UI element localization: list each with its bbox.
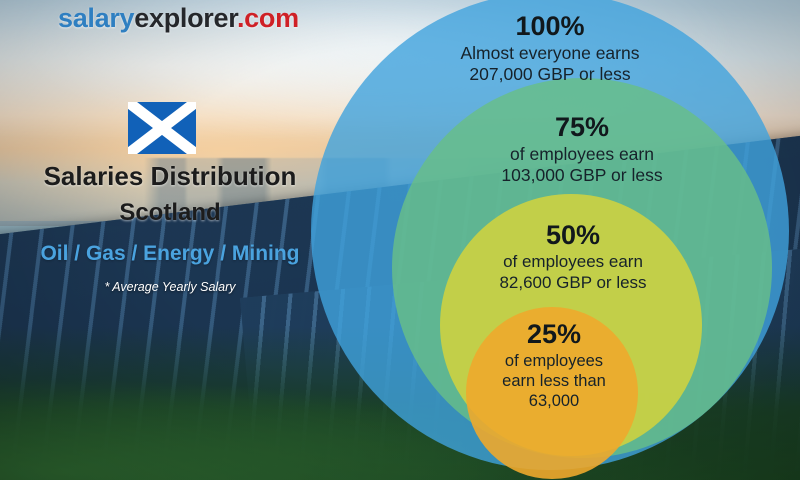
desc-25-line3: 63,000 bbox=[462, 391, 646, 411]
desc-75-line2: 103,000 GBP or less bbox=[432, 165, 732, 186]
percent-25: 25% bbox=[462, 318, 646, 351]
desc-50-line2: 82,600 GBP or less bbox=[448, 273, 698, 294]
desc-25-line1: of employees bbox=[462, 351, 646, 371]
label-percentile-50: 50% of employees earn 82,600 GBP or less bbox=[448, 219, 698, 293]
percent-50: 50% bbox=[448, 219, 698, 252]
percent-75: 75% bbox=[432, 111, 732, 144]
desc-100-line2: 207,000 GBP or less bbox=[390, 64, 710, 85]
label-percentile-25: 25% of employees earn less than 63,000 bbox=[462, 318, 646, 411]
desc-50-line1: of employees earn bbox=[448, 252, 698, 273]
infographic-root: salaryexplorer.com Salaries Distribution… bbox=[0, 0, 800, 480]
desc-25-line2: earn less than bbox=[462, 371, 646, 391]
percent-100: 100% bbox=[390, 10, 710, 43]
desc-100-line1: Almost everyone earns bbox=[390, 43, 710, 64]
label-percentile-75: 75% of employees earn 103,000 GBP or les… bbox=[432, 111, 732, 187]
bubble-chart: 100% Almost everyone earns 207,000 GBP o… bbox=[0, 0, 800, 480]
label-percentile-100: 100% Almost everyone earns 207,000 GBP o… bbox=[390, 10, 710, 86]
desc-75-line1: of employees earn bbox=[432, 144, 732, 165]
